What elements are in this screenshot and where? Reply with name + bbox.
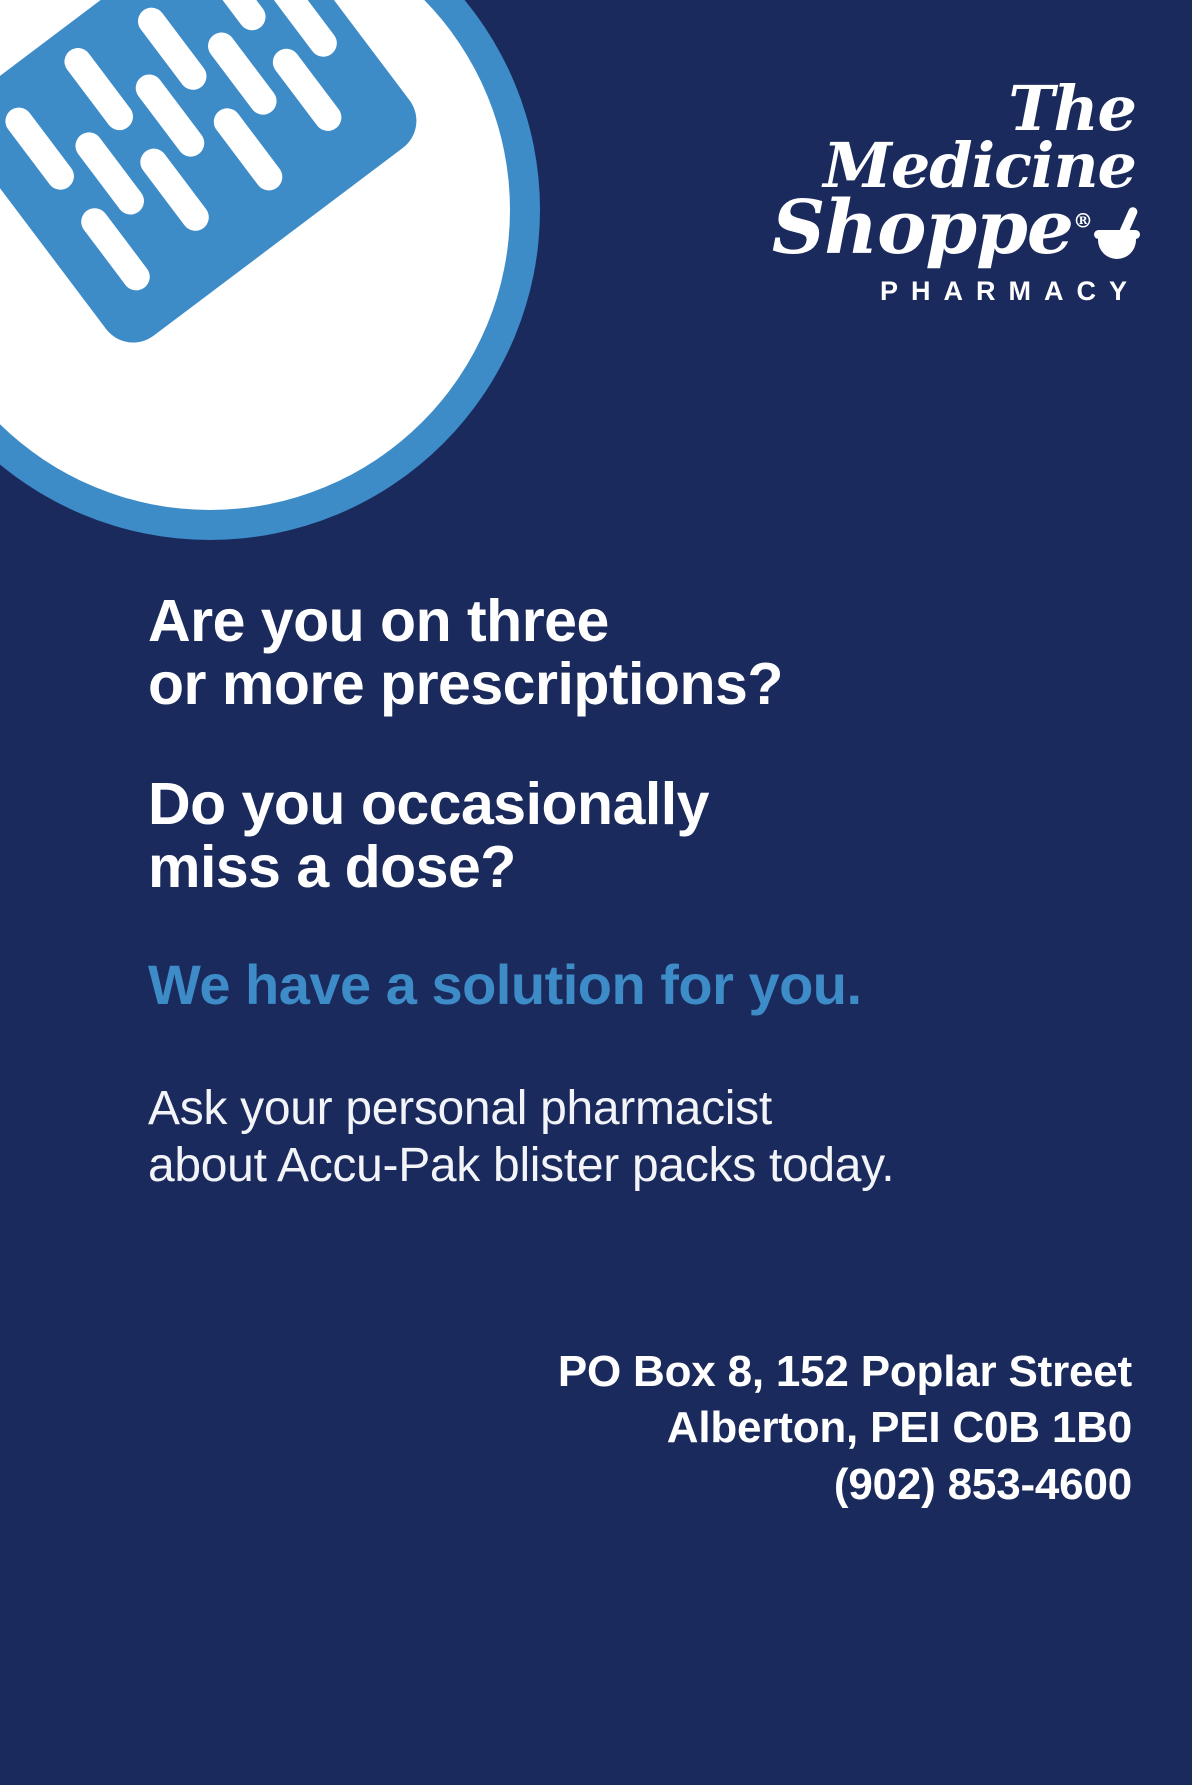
body-line-2: about Accu-Pak blister packs today. <box>148 1138 1132 1195</box>
brand-line-2: Shoppe® <box>720 194 1140 262</box>
mortar-bowl <box>1098 237 1136 259</box>
body-copy: Ask your personal pharmacist about Accu-… <box>148 1081 1132 1194</box>
brand-line-2-text: Shoppe <box>772 185 1073 271</box>
brand-line-1: The Medicine <box>720 80 1140 194</box>
question-2-line-1: Do you occasionally <box>148 773 1132 836</box>
tagline: We have a solution for you. <box>148 956 1132 1015</box>
registered-mark: ® <box>1073 208 1092 232</box>
question-1-line-1: Are you on three <box>148 590 1132 653</box>
body-line-1: Ask your personal pharmacist <box>148 1081 1132 1138</box>
question-2-line-2: miss a dose? <box>148 836 1132 899</box>
brand-wordmark: The Medicine Shoppe® <box>720 80 1140 262</box>
address-line-1: PO Box 8, 152 Poplar Street <box>558 1344 1132 1400</box>
address-line-2: Alberton, PEI C0B 1B0 <box>558 1400 1132 1456</box>
phone-number[interactable]: (902) 853-4600 <box>558 1457 1132 1513</box>
brand-subtitle: PHARMACY <box>720 276 1140 307</box>
poster-content: Are you on three or more prescriptions? … <box>148 590 1132 1194</box>
contact-block: PO Box 8, 152 Poplar Street Alberton, PE… <box>558 1344 1132 1513</box>
mortar-and-pestle-icon <box>1094 207 1140 259</box>
badge-circle <box>0 0 540 540</box>
poster-canvas: The Medicine Shoppe® PHARMACY Are you on… <box>0 0 1192 1785</box>
question-block-1: Are you on three or more prescriptions? <box>148 590 1132 715</box>
question-block-2: Do you occasionally miss a dose? <box>148 773 1132 898</box>
question-1-line-2: or more prescriptions? <box>148 653 1132 716</box>
brand-logo: The Medicine Shoppe® PHARMACY <box>720 80 1140 307</box>
